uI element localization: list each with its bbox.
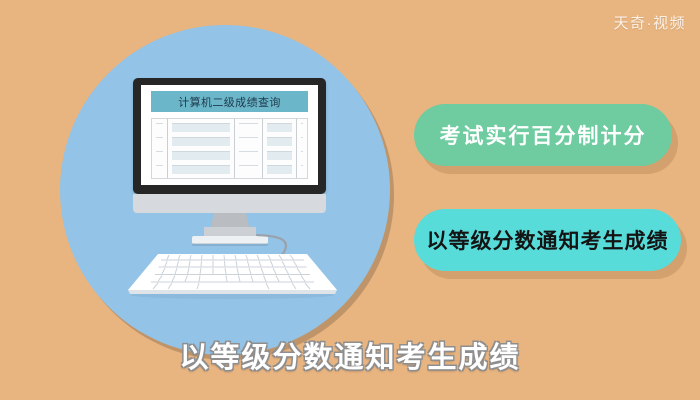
- table-column-name: [168, 119, 235, 178]
- table-cell: [301, 137, 303, 146]
- table-cell: [267, 151, 293, 160]
- table-column-index: [152, 119, 168, 178]
- table-cell: [156, 151, 163, 160]
- table-cell: [239, 123, 258, 132]
- screen-title-bar: 计算机二级成绩查询: [151, 91, 308, 112]
- callout-grade-notification[interactable]: 以等级分数通知考生成绩: [414, 209, 681, 271]
- keyboard-icon: [125, 250, 340, 300]
- table-cell: [301, 165, 303, 174]
- monitor-screen: 计算机二级成绩查询: [141, 85, 318, 185]
- screen-title-text: 计算机二级成绩查询: [178, 94, 281, 110]
- callout-exam-scoring[interactable]: 考试实行百分制计分: [414, 104, 672, 166]
- table-cell: [301, 123, 303, 132]
- score-table: [151, 118, 308, 179]
- table-cell: [172, 137, 230, 146]
- subtitle-caption: 以等级分数通知考生成绩: [0, 334, 700, 376]
- table-cell: [172, 151, 230, 160]
- table-cell: [267, 123, 293, 132]
- callout-text: 以等级分数通知考生成绩: [427, 225, 669, 255]
- table-column-score: [263, 119, 298, 178]
- table-cell: [239, 165, 258, 174]
- table-column-middle: [235, 119, 263, 178]
- table-cell: [301, 151, 303, 160]
- callout-bubble[interactable]: 考试实行百分制计分: [414, 104, 672, 166]
- table-cell: [172, 165, 230, 174]
- table-cell: [156, 137, 163, 146]
- table-cell: [156, 165, 163, 174]
- callout-bubble[interactable]: 以等级分数通知考生成绩: [414, 209, 681, 271]
- callout-text: 考试实行百分制计分: [440, 120, 647, 150]
- table-cell: [239, 137, 258, 146]
- table-cell: [156, 123, 163, 132]
- table-column-end: [297, 119, 307, 178]
- monitor-stand-collar: [204, 227, 256, 236]
- monitor-chin: [133, 194, 326, 213]
- table-cell: [239, 151, 258, 160]
- video-frame: 天奇·视频 计算机二级成绩查询: [0, 0, 700, 400]
- table-cell: [267, 137, 293, 146]
- table-cell: [172, 123, 230, 132]
- table-cell: [267, 165, 293, 174]
